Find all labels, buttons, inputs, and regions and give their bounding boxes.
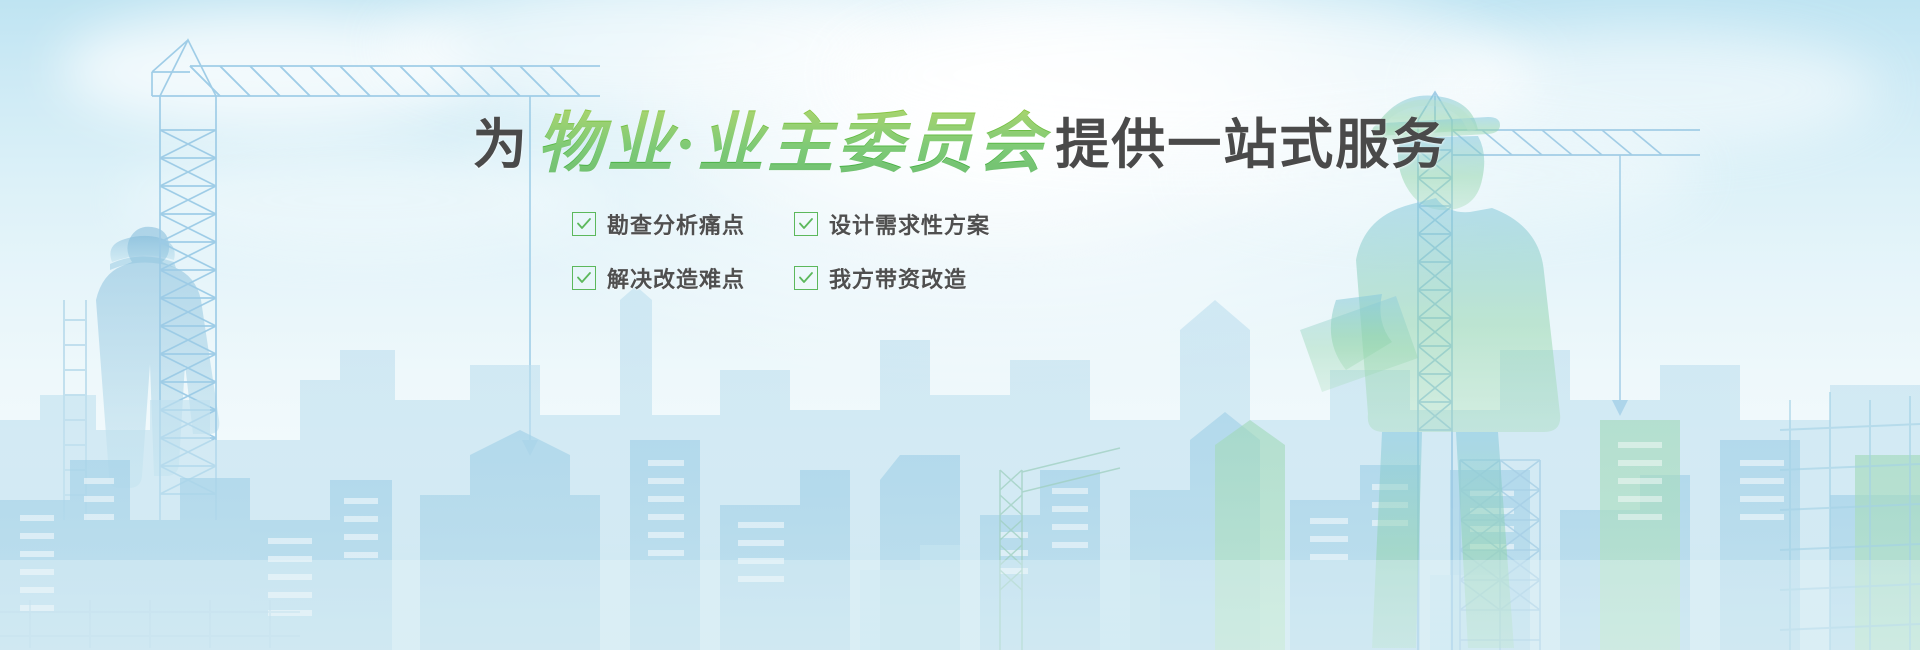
city-skyline-icon: [1215, 420, 1920, 650]
tower-crane-icon: [1000, 448, 1120, 650]
checkbox-checked-icon: [794, 266, 818, 290]
building-windows-icon: [1618, 442, 1662, 520]
feature-label: 勘查分析痛点: [607, 208, 745, 240]
checkbox-checked-icon: [794, 212, 818, 236]
headline-prefix: 为: [473, 115, 529, 175]
site-fence-icon: [0, 600, 300, 648]
worker-helmet-icon: [110, 256, 176, 270]
scaffold-icon: [1460, 460, 1540, 650]
rebar-frame-icon: [1780, 392, 1920, 650]
city-skyline-icon: [0, 412, 1920, 650]
feature-label: 我方带资改造: [829, 262, 967, 294]
headline-highlight: 物业·业主委员会: [529, 108, 1056, 181]
scaffold-icon: [64, 300, 86, 520]
headline: 为物业·业主委员会提供一站式服务: [0, 112, 1920, 178]
feature-list: 勘查分析痛点 设计需求性方案 解决改造难点: [572, 208, 1042, 316]
feature-row: 勘查分析痛点 设计需求性方案: [572, 208, 1042, 240]
feature-label: 解决改造难点: [607, 262, 745, 294]
feature-item-1: 设计需求性方案: [794, 208, 990, 240]
promo-banner: 为物业·业主委员会提供一站式服务 勘查分析痛点 设计需求性方案: [0, 0, 1920, 650]
feature-item-0: 勘查分析痛点: [572, 208, 794, 240]
city-skyline-icon: [0, 286, 1920, 650]
feature-label: 设计需求性方案: [829, 208, 990, 240]
checkbox-checked-icon: [572, 266, 596, 290]
low-rise-buildings-icon: [860, 545, 1500, 650]
construction-worker-silhouette-icon: [96, 227, 219, 488]
headline-suffix: 提供一站式服务: [1055, 115, 1447, 175]
building-windows-icon: [20, 460, 1784, 616]
checkbox-checked-icon: [572, 212, 596, 236]
feature-item-3: 我方带资改造: [794, 262, 967, 294]
feature-row: 解决改造难点 我方带资改造: [572, 262, 1042, 294]
feature-item-2: 解决改造难点: [572, 262, 794, 294]
